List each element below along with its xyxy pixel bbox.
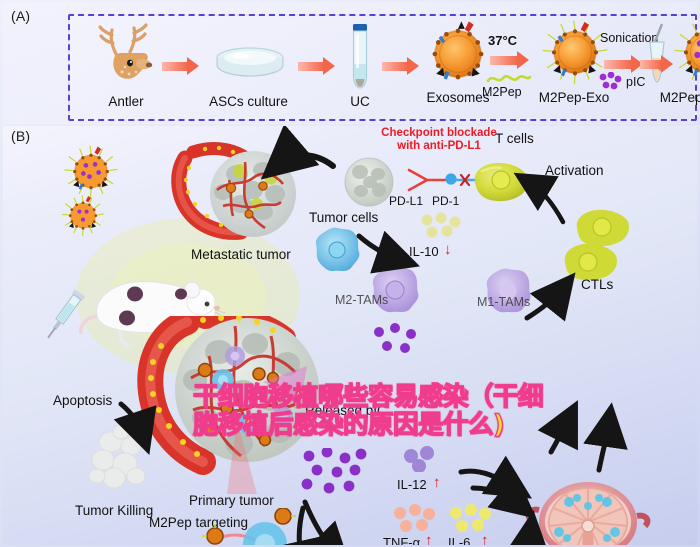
arrow-uc-to-exosomes bbox=[382, 62, 408, 71]
step-label-m2pep-exo: M2Pep-Exo bbox=[539, 90, 610, 105]
arrow-asc-to-uc bbox=[298, 62, 324, 71]
deer-icon bbox=[92, 22, 162, 88]
step-uc: UC bbox=[332, 20, 388, 115]
arrow-to-final-exosome bbox=[640, 60, 662, 69]
exosome-icon bbox=[424, 20, 492, 88]
exosome-loaded-pic-icon bbox=[672, 18, 700, 88]
figure-canvas: (A) bbox=[0, 0, 700, 547]
step-label-asc-culture: ASCs culture bbox=[209, 94, 288, 109]
annotation-temperature: 37°C bbox=[488, 34, 517, 48]
centrifuge-tube-icon bbox=[349, 24, 371, 90]
panel-a-tag: (A) bbox=[11, 8, 30, 24]
arrow-exosomes-to-m2pep-exo bbox=[490, 56, 518, 65]
panel-a: (A) bbox=[3, 2, 697, 124]
arrow-m2pep-exo-to-pic bbox=[604, 60, 632, 69]
step-label-exosomes: Exosomes bbox=[426, 90, 489, 105]
annotation-m2pep: M2Pep bbox=[482, 86, 522, 99]
step-m2pep-exo-pic: M2Pep-Exo(pIC) bbox=[658, 16, 700, 115]
petri-dish-icon bbox=[214, 44, 286, 84]
panel-b: (B) bbox=[3, 126, 697, 545]
step-antler: Antler bbox=[80, 20, 172, 115]
pathway-arrows bbox=[3, 126, 697, 545]
step-asc-culture: ASCs culture bbox=[196, 20, 301, 115]
step-label-uc: UC bbox=[350, 94, 370, 109]
step-label-m2pep-exo-pic: M2Pep-Exo(pIC) bbox=[660, 90, 700, 105]
panel-a-dashed-border: Antler ASCs culture bbox=[68, 14, 697, 121]
step-label-antler: Antler bbox=[108, 94, 143, 109]
pic-particle-icon bbox=[598, 72, 624, 92]
arrow-antler-to-asc bbox=[162, 62, 188, 71]
step-exosomes: Exosomes bbox=[414, 16, 502, 115]
